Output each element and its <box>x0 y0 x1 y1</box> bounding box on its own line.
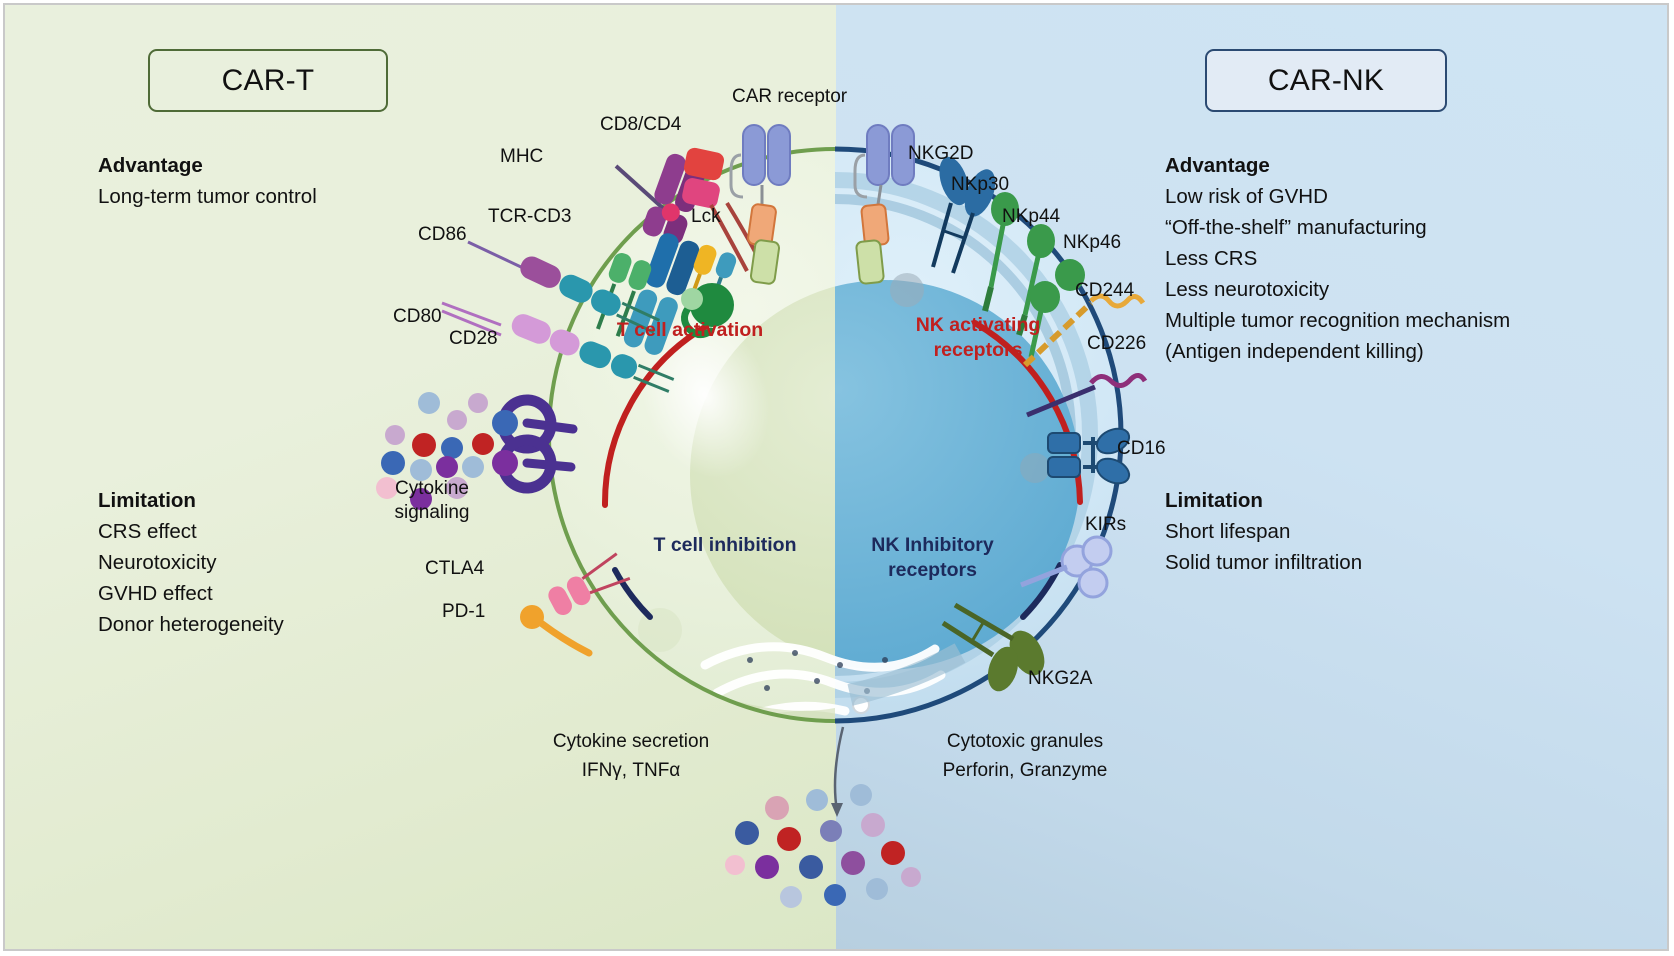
right-advantage-item-2: Less CRS <box>1165 243 1510 274</box>
secreted-granules <box>725 784 921 908</box>
right-limitation-heading: Limitation <box>1165 485 1362 516</box>
nk-activating-line2: receptors <box>883 338 1073 363</box>
right-advantage-heading: Advantage <box>1165 150 1510 181</box>
left-advantage-item-0: Long-term tumor control <box>98 181 317 212</box>
label-nk-activating-receptors: NK activating receptors <box>883 313 1073 363</box>
label-nkp30: NKp30 <box>951 173 1009 197</box>
title-car-t: CAR-T <box>222 64 315 98</box>
label-car-receptor: CAR receptor <box>732 85 847 109</box>
right-advantage-item-3: Less neurotoxicity <box>1165 274 1510 305</box>
cytotoxic-granules-line1: Cytotoxic granules <box>880 727 1170 756</box>
right-limitation-item-0: Short lifespan <box>1165 516 1362 547</box>
left-limitation-item-3: Donor heterogeneity <box>98 609 284 640</box>
secretion-arrow <box>835 727 843 811</box>
label-cd8-cd4: CD8/CD4 <box>600 113 681 137</box>
right-advantage-item-5: (Antigen independent killing) <box>1165 336 1510 367</box>
right-advantage-item-4: Multiple tumor recognition mechanism <box>1165 305 1510 336</box>
label-nkp46: NKp46 <box>1063 231 1121 255</box>
right-limitation-item-1: Solid tumor infiltration <box>1165 547 1362 578</box>
left-limitation-item-0: CRS effect <box>98 516 284 547</box>
cell-illustration <box>5 5 1669 951</box>
left-limitation-item-1: Neurotoxicity <box>98 547 284 578</box>
caption-cytotoxic-granules: Cytotoxic granules Perforin, Granzyme <box>880 727 1170 785</box>
nk-inhibitory-line2: receptors <box>835 558 1030 583</box>
cytokine-secretion-line2: IFNγ, TNFα <box>497 756 765 785</box>
right-advantage-item-0: Low risk of GVHD <box>1165 181 1510 212</box>
cytokine-signaling-line2: signaling <box>373 501 491 525</box>
label-cd86: CD86 <box>418 223 467 247</box>
label-cytokine-signaling: Cytokine signaling <box>373 477 491 525</box>
right-advantage-block: Advantage Low risk of GVHD “Off-the-shel… <box>1165 150 1510 367</box>
figure-canvas: CAR-T CAR-NK Advantage Long-term tumor c… <box>0 0 1674 956</box>
label-cd28: CD28 <box>449 327 498 351</box>
label-lck: Lck <box>691 205 721 229</box>
label-nk-inhibitory-receptors: NK Inhibitory receptors <box>835 533 1030 583</box>
label-t-cell-activation: T cell activation <box>595 318 785 343</box>
label-cd80: CD80 <box>393 305 442 329</box>
label-cd226: CD226 <box>1087 332 1146 356</box>
left-advantage-block: Advantage Long-term tumor control <box>98 150 317 212</box>
figure-frame: CAR-T CAR-NK Advantage Long-term tumor c… <box>3 3 1669 951</box>
left-limitation-item-2: GVHD effect <box>98 578 284 609</box>
label-kirs: KIRs <box>1085 513 1126 537</box>
label-cd244: CD244 <box>1075 279 1134 303</box>
label-ctla4: CTLA4 <box>425 557 484 581</box>
label-nkg2a: NKG2A <box>1028 667 1092 691</box>
cytotoxic-granules-line2: Perforin, Granzyme <box>880 756 1170 785</box>
title-car-nk: CAR-NK <box>1268 64 1384 98</box>
cytokine-signaling-line1: Cytokine <box>373 477 491 501</box>
title-box-car-t[interactable]: CAR-T <box>148 49 388 112</box>
label-pd-1: PD-1 <box>442 600 485 624</box>
caption-cytokine-secretion: Cytokine secretion IFNγ, TNFα <box>497 727 765 785</box>
title-box-car-nk[interactable]: CAR-NK <box>1205 49 1447 112</box>
label-nkg2d: NKG2D <box>908 142 973 166</box>
cytokine-secretion-line1: Cytokine secretion <box>497 727 765 756</box>
left-advantage-heading: Advantage <box>98 150 317 181</box>
right-advantage-item-1: “Off-the-shelf” manufacturing <box>1165 212 1510 243</box>
nk-inhibitory-line1: NK Inhibitory <box>835 533 1030 558</box>
label-cd16: CD16 <box>1117 437 1166 461</box>
right-limitation-block: Limitation Short lifespan Solid tumor in… <box>1165 485 1362 578</box>
left-limitation-block: Limitation CRS effect Neurotoxicity GVHD… <box>98 485 284 640</box>
label-nkp44: NKp44 <box>1002 205 1060 229</box>
left-limitation-heading: Limitation <box>98 485 284 516</box>
label-mhc: MHC <box>500 145 543 169</box>
label-tcr-cd3: TCR-CD3 <box>488 205 571 229</box>
pd1-receptor <box>520 605 589 653</box>
nk-activating-line1: NK activating <box>883 313 1073 338</box>
label-t-cell-inhibition: T cell inhibition <box>635 533 815 558</box>
